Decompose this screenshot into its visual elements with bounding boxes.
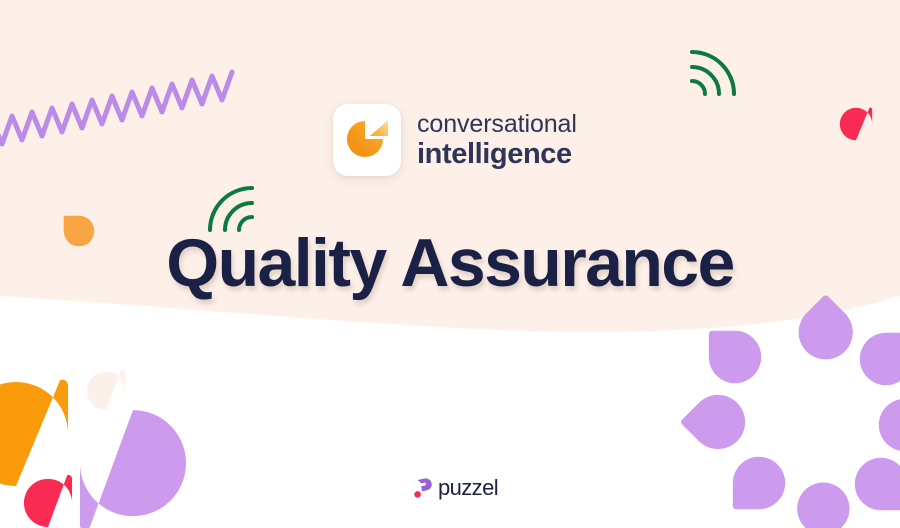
speech-bubble-cluster-item-ne	[857, 330, 900, 388]
brand-wordmark: conversational intelligence	[417, 112, 577, 169]
pie-chart-icon	[343, 116, 391, 164]
speech-bubble-cream	[85, 368, 127, 412]
speech-bubble-cluster-item-se	[852, 455, 900, 513]
promo-banner: conversational intelligence Quality Assu…	[0, 0, 900, 528]
speech-bubble-cluster-item-w	[688, 392, 748, 452]
speech-bubble-cluster-item-sw	[730, 454, 788, 512]
speech-bubble-pink-bottom	[22, 473, 74, 528]
speech-bubble-pink-top	[838, 106, 874, 142]
speech-bubble-cluster-item-nw	[706, 328, 764, 386]
brand-line-intelligence: intelligence	[417, 140, 577, 169]
brand-logo-tile	[333, 104, 401, 176]
puzzel-wordmark: puzzel	[438, 477, 498, 499]
speech-bubble-cluster-item-n	[795, 302, 855, 364]
puzzel-p-mark-icon	[413, 477, 433, 499]
brand-line-conversational: conversational	[417, 112, 577, 137]
speech-bubble-orange-large	[0, 378, 70, 488]
zigzag-squiggle-decoration	[0, 0, 238, 154]
page-title: Quality Assurance	[0, 224, 900, 302]
puzzel-logo: puzzel	[413, 477, 498, 499]
speech-bubble-cluster-item-s	[795, 478, 853, 528]
signal-arcs-icon-right	[686, 36, 748, 98]
speech-bubble-cluster-item-e	[876, 396, 900, 454]
brand-lockup: conversational intelligence	[333, 104, 577, 176]
speech-bubble-purple-large	[78, 408, 188, 528]
